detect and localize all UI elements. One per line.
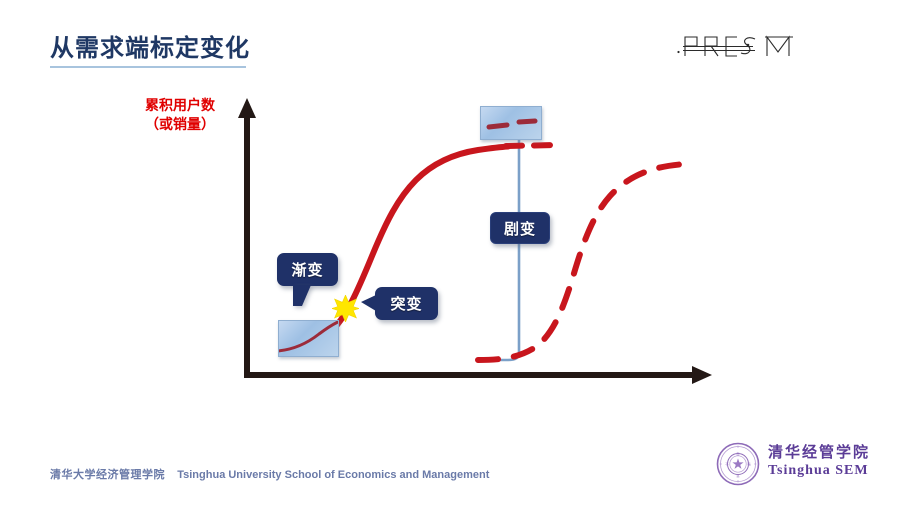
tsinghua-sem-logo-cn: 清华经管学院 [768, 443, 870, 462]
callout-abrupt-label: 突变 [390, 293, 422, 314]
svg-text:不: 不 [725, 463, 729, 467]
callout-gradual-tail [293, 285, 311, 306]
callout-gradual-label: 渐变 [291, 259, 323, 280]
inflection-star-icon [332, 295, 359, 322]
callout-drastic-label: 剧变 [504, 218, 536, 239]
tsinghua-seal-icon: 自 强 息 不 [716, 442, 760, 486]
series-second-generation-curve [478, 164, 686, 360]
footer-institution: 清华大学经济管理学院 Tsinghua University School of… [50, 466, 489, 482]
footer-institution-cn: 清华大学经济管理学院 [50, 469, 165, 481]
low-growth-zoom-box [278, 320, 339, 357]
tsinghua-sem-logo-text: 清华经管学院 Tsinghua SEM [768, 443, 870, 480]
slide-canvas: 从需求端标定变化 [0, 0, 900, 506]
callout-abrupt[interactable]: 突变 [375, 287, 438, 320]
saturation-zoom-box [480, 106, 542, 140]
callout-gradual[interactable]: 渐变 [277, 253, 338, 286]
chart-area: 累积用户数 （或销量） [0, 80, 900, 410]
title-underline-rule [50, 66, 246, 68]
svg-text:自: 自 [736, 451, 739, 456]
svg-text:息: 息 [736, 473, 740, 478]
presm-logo [675, 28, 825, 64]
footer-institution-en: Tsinghua University School of Economics … [177, 469, 489, 481]
tsinghua-sem-logo: 自 强 息 不 清华经管学院 Tsinghua SEM [716, 440, 886, 490]
page-title: 从需求端标定变化 [50, 28, 250, 63]
svg-text:强: 强 [747, 462, 751, 467]
series-first-generation-saturation-dashed [506, 145, 556, 146]
tsinghua-sem-logo-en: Tsinghua SEM [768, 462, 870, 480]
callout-abrupt-tail [361, 295, 376, 311]
callout-drastic[interactable]: 剧变 [490, 212, 550, 244]
